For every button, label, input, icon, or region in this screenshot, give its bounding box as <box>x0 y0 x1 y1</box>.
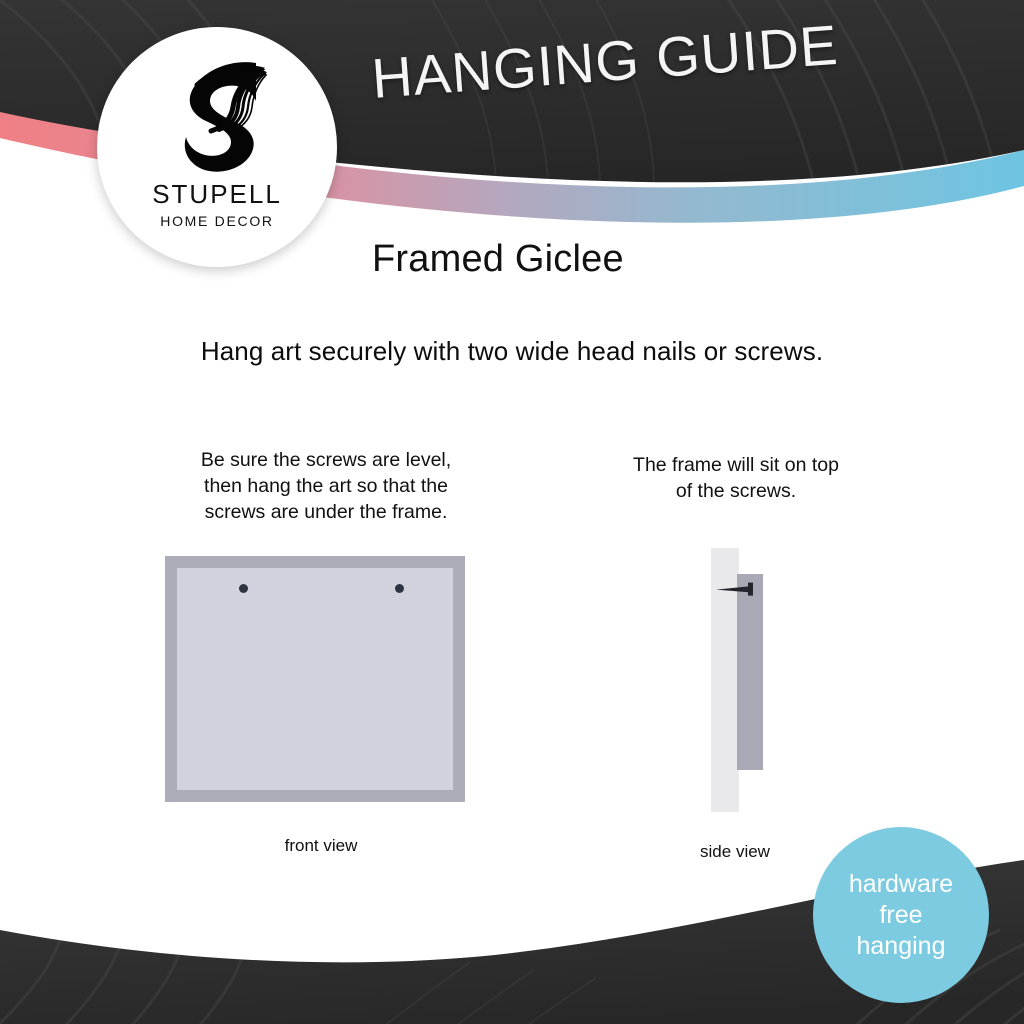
screw-dot-left <box>239 584 248 593</box>
side-view-caption: The frame will sit on top of the screws. <box>596 452 876 504</box>
stupell-swoosh-logo-icon <box>161 57 273 175</box>
front-caption-line-1: Be sure the screws are level, <box>176 447 476 473</box>
brand-tagline: HOME DECOR <box>160 214 273 228</box>
side-view-frame <box>737 574 763 770</box>
brand-name: STUPELL <box>152 181 282 207</box>
side-caption-line-1: The frame will sit on top <box>596 452 876 478</box>
side-view-label: side view <box>620 842 850 862</box>
product-type-subtitle: Framed Giclee <box>372 238 624 281</box>
front-view-caption: Be sure the screws are level, then hang … <box>176 447 476 525</box>
hanging-guide-infographic: STUPELL HOME DECOR HANGING GUIDE Framed … <box>0 0 1024 1024</box>
frame-mat-area <box>177 568 453 790</box>
front-caption-line-3: screws are under the frame. <box>176 499 476 525</box>
hardware-free-hanging-badge: hardware free hanging <box>813 827 989 1003</box>
front-view-frame-diagram <box>165 556 465 802</box>
nail-icon <box>714 580 762 598</box>
side-caption-line-2: of the screws. <box>596 478 876 504</box>
front-view-label: front view <box>196 836 446 856</box>
badge-line-1: hardware <box>849 869 953 900</box>
brand-logo-badge: STUPELL HOME DECOR <box>97 27 337 267</box>
badge-line-2: free <box>879 900 922 931</box>
front-caption-line-2: then hang the art so that the <box>176 473 476 499</box>
badge-line-3: hanging <box>857 931 946 962</box>
screw-dot-right <box>395 584 404 593</box>
main-instruction: Hang art securely with two wide head nai… <box>0 336 1024 367</box>
